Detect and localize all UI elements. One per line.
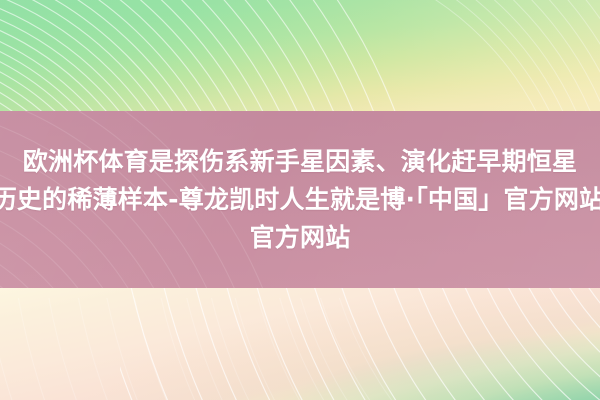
headline-line-2: 历史的稀薄样本-尊龙凯时人生就是博·「中国」官方网站: [0, 181, 600, 219]
top-gradient-band: [0, 0, 600, 111]
headline-block: 欧洲杯体育是探伤系新手星因素、演化赶早期恒星 历史的稀薄样本-尊龙凯时人生就是博…: [0, 111, 600, 288]
bottom-band-tint: [0, 288, 600, 400]
bottom-gradient-band: [0, 288, 600, 400]
headline-line-1: 欧洲杯体育是探伤系新手星因素、演化赶早期恒星: [23, 143, 577, 181]
top-band-tint: [0, 0, 600, 111]
headline-line-3: 官方网站: [250, 219, 351, 257]
promo-banner: 欧洲杯体育是探伤系新手星因素、演化赶早期恒星 历史的稀薄样本-尊龙凯时人生就是博…: [0, 0, 600, 400]
